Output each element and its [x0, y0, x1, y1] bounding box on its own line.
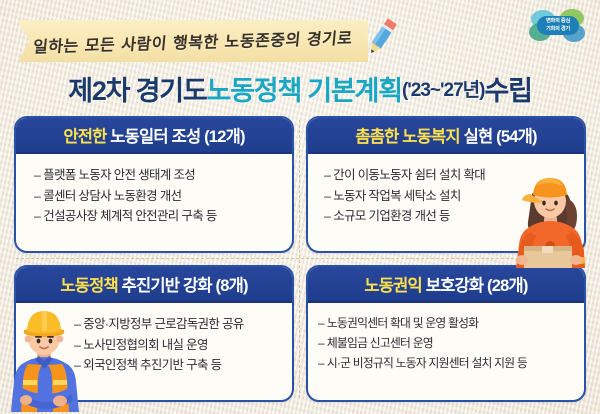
card-title-highlight: 노동정책: [60, 277, 118, 295]
card-header: 촘촘한 노동복지 실현 (54개): [306, 116, 586, 154]
list-item: –소규모 기업환경 개선 등: [324, 208, 450, 225]
bullet-text: 체불임금 신고센터 운영: [327, 336, 433, 350]
bullet-dash: –: [324, 209, 330, 223]
pencil-icon: [360, 12, 404, 60]
bullet-dash: –: [324, 189, 330, 203]
card-title-rest: 실현 (54개): [460, 128, 537, 146]
list-item: –콜센터 상담사 노동환경 개선: [34, 188, 181, 205]
card-header: 노동정책 추진기반 강화 (8개): [14, 265, 294, 303]
list-item: –노동권익센터 확대 및 운영 활성화: [318, 316, 478, 332]
bullet-dash: –: [34, 189, 40, 203]
construction-worker-illustration: [2, 302, 88, 412]
list-item: –체불임금 신고센터 운영: [318, 336, 433, 352]
bullet-dash: –: [324, 168, 330, 182]
bullet-dash: –: [34, 168, 40, 182]
title-part-1: 제2차 경기도: [68, 69, 206, 108]
bullet-text: 노사민정협의회 내실 운영: [83, 338, 207, 352]
bullet-dash: –: [34, 209, 40, 223]
title-part-3: ('23~'27년): [402, 75, 485, 102]
card-frame: 안전한 노동일터 조성 (12개) –플랫폼 노동자 안전 생태계 조성 –콜센…: [14, 116, 294, 253]
page-title: 제2차 경기도 노동정책 기본계획 ('23~'27년) 수립: [0, 68, 600, 108]
card-header: 노동권익 보호강화 (28개): [306, 265, 586, 303]
bullet-text: 노동자 작업복 세탁소 설치: [333, 189, 460, 203]
list-item: –플랫폼 노동자 안전 생태계 조성: [34, 167, 195, 184]
card-title: 안전한 노동일터 조성 (12개): [63, 123, 244, 147]
card-bullet-list: –노동권익센터 확대 및 운영 활성화 –체불임금 신고센터 운영 –시·군 비…: [308, 307, 584, 400]
bullet-text: 콜센터 상담사 노동환경 개선: [43, 189, 181, 203]
poster-canvas: 일하는 모든 사람이 행복한 노동존중의 경기로 변화의 중심 기회의 경기 제…: [0, 0, 600, 414]
card-title-rest: 노동일터 조성 (12개): [106, 128, 244, 146]
strategy-card-safe-workplace: 안전한 노동일터 조성 (12개) –플랫폼 노동자 안전 생태계 조성 –콜센…: [14, 116, 294, 253]
card-bullet-list: –플랫폼 노동자 안전 생태계 조성 –콜센터 상담사 노동환경 개선 –건설공…: [16, 158, 292, 251]
list-item: –외국인정책 추진기반 구축 등: [74, 357, 221, 374]
gyeonggi-logo: 변화의 중심 기회의 경기: [528, 8, 588, 44]
logo-mark: [528, 8, 588, 44]
list-item: –간이 이동노동자 쉼터 설치 확대: [324, 167, 485, 184]
slogan-ribbon: 일하는 모든 사람이 행복한 노동존중의 경기로: [18, 20, 368, 62]
strategy-card-labor-rights: 노동권익 보호강화 (28개) –노동권익센터 확대 및 운영 활성화 –체불임…: [306, 265, 586, 402]
card-title-rest: 보호강화 (28개): [422, 277, 528, 295]
list-item: –시·군 비정규직 노동자 지원센터 설치 지원 등: [318, 356, 527, 372]
delivery-worker-illustration: [502, 164, 594, 268]
card-title: 노동권익 보호강화 (28개): [364, 272, 527, 296]
title-part-2: 노동정책 기본계획: [207, 69, 402, 108]
bullet-dash: –: [318, 316, 324, 330]
title-part-4: 수립: [485, 69, 532, 108]
card-title-highlight: 안전한: [63, 128, 106, 146]
list-item: –노동자 작업복 세탁소 설치: [324, 188, 461, 205]
card-title-rest: 추진기반 강화 (8개): [118, 277, 248, 295]
card-title-highlight: 노동권익: [364, 277, 422, 295]
bullet-text: 외국인정책 추진기반 구축 등: [83, 358, 221, 372]
card-frame: 노동권익 보호강화 (28개) –노동권익센터 확대 및 운영 활성화 –체불임…: [306, 265, 586, 402]
card-title-highlight: 촘촘한 노동복지: [355, 128, 459, 146]
bullet-text: 시·군 비정규직 노동자 지원센터 설치 지원 등: [327, 356, 527, 370]
bullet-dash: –: [318, 336, 324, 350]
bullet-text: 중앙·지방정부 근로감독권한 공유: [83, 317, 243, 331]
bullet-dash: –: [318, 356, 324, 370]
bullet-text: 소규모 기업환경 개선 등: [333, 209, 450, 223]
card-title: 노동정책 추진기반 강화 (8개): [60, 272, 247, 296]
strategy-card-grid: 안전한 노동일터 조성 (12개) –플랫폼 노동자 안전 생태계 조성 –콜센…: [14, 116, 586, 402]
bullet-text: 건설공사장 체계적 안전관리 구축 등: [43, 209, 216, 223]
bullet-text: 간이 이동노동자 쉼터 설치 확대: [333, 168, 485, 182]
card-header: 안전한 노동일터 조성 (12개): [14, 116, 294, 154]
bullet-text: 노동권익센터 확대 및 운영 활성화: [327, 316, 479, 330]
list-item: –건설공사장 체계적 안전관리 구축 등: [34, 208, 217, 225]
bullet-text: 플랫폼 노동자 안전 생태계 조성: [43, 168, 195, 182]
list-item: –중앙·지방정부 근로감독권한 공유: [74, 316, 244, 333]
list-item: –노사민정협의회 내실 운영: [74, 337, 208, 354]
card-title: 촘촘한 노동복지 실현 (54개): [355, 123, 536, 147]
